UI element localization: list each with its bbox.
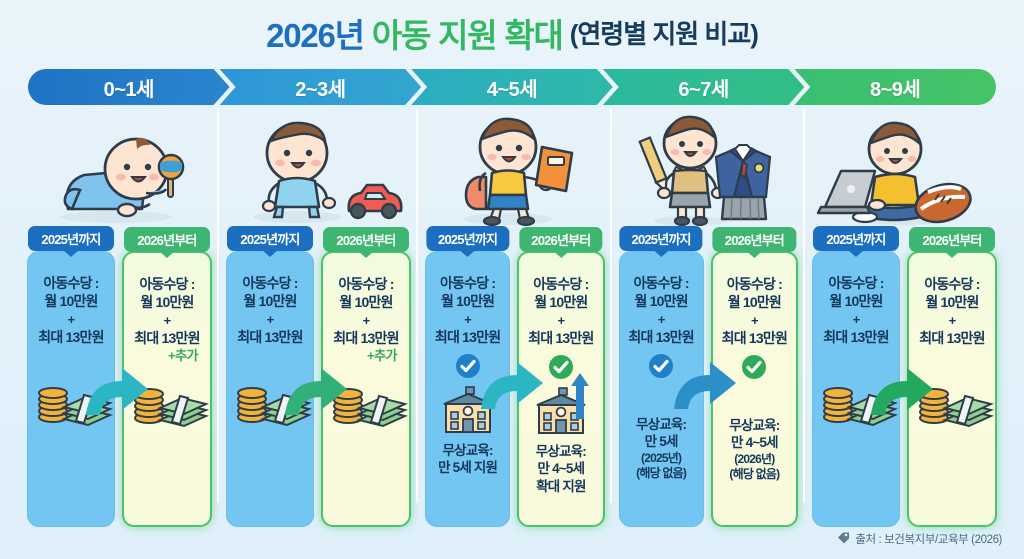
school-group-before	[434, 353, 502, 439]
allowance-line-3: 최대 13만원	[435, 328, 500, 346]
note-line-2: 만 4~5세	[536, 460, 586, 478]
note-line-2: 만 5세 지원	[438, 459, 497, 477]
allowance-line-1: 아동수당 :	[134, 275, 199, 293]
school-building-icon	[434, 386, 502, 439]
tab-after-2-3: 2026년부터	[323, 227, 409, 252]
allowance-plus: +	[919, 312, 984, 329]
allowance-line-1: 아동수당 :	[333, 275, 398, 293]
allowance-plus: +	[134, 312, 199, 329]
column-age-0-1: 2025년까지 아동수당 : 월 10만원 + 최대 13만원	[20, 109, 219, 527]
note-line-4: (해당 없음)	[729, 467, 779, 483]
allowance-plus: +	[722, 312, 787, 329]
check-group-before	[648, 353, 674, 386]
card-after-8-9[interactable]: 2026년부터 아동수당 : 월 10만원 + 최대 13만원	[907, 251, 997, 527]
illustration-crawling-baby	[20, 109, 219, 225]
allowance-line-2: 월 10만원	[38, 292, 103, 310]
allowance-plus: +	[628, 311, 693, 328]
title-main: 2026년 아동 지원 확대	[266, 9, 563, 57]
allowance-line-3: 최대 13만원	[823, 328, 888, 346]
card-before-4-5[interactable]: 2025년까지 아동수당 : 월 10만원 + 최대 13만원	[425, 251, 510, 527]
allowance-line-2: 월 10만원	[435, 292, 500, 310]
allowance-before-6-7: 아동수당 : 월 10만원 + 최대 13만원	[628, 274, 693, 347]
card-before-0-1[interactable]: 2025년까지 아동수당 : 월 10만원 + 최대 13만원	[27, 251, 115, 527]
allowance-line-2: 월 10만원	[134, 293, 199, 311]
column-age-2-3: 2025년까지 아동수당 : 월 10만원 + 최대 13만원	[219, 109, 418, 527]
age-segment-6-7[interactable]: 6~7세	[603, 69, 805, 105]
source-text: 출처 : 보건복지부/교육부 (2026)	[855, 531, 1002, 547]
check-circle-icon	[648, 353, 674, 384]
allowance-line-1: 아동수당 :	[435, 274, 500, 292]
note-line-4: (해당 없음)	[636, 466, 686, 482]
money-stack-icon	[227, 353, 313, 429]
age-segment-4-5[interactable]: 4~5세	[411, 69, 613, 105]
age-segment-0-1[interactable]: 0~1세	[28, 69, 230, 105]
tab-after-4-5: 2026년부터	[519, 227, 602, 252]
note-line-1: 무상교육:	[729, 417, 779, 435]
card-after-0-1[interactable]: 2026년부터 아동수당 : 월 10만원 + 최대 13만원 +추가	[122, 251, 212, 527]
tab-before-0-1: 2025년까지	[28, 226, 114, 251]
illustration-boy-laptop	[805, 109, 1004, 225]
allowance-plus: +	[38, 311, 103, 328]
tab-before-8-9: 2025년까지	[813, 226, 899, 251]
age-segment-2-3[interactable]: 2~3세	[220, 69, 422, 105]
title-subtitle: (연령별 지원 비교)	[570, 14, 758, 53]
note-line-1: 무상교육:	[636, 416, 686, 434]
allowance-line-3: 최대 13만원	[722, 329, 787, 347]
allowance-plus: +	[823, 311, 888, 328]
extra-badge-2-3: +추가	[367, 345, 397, 364]
note-line-1: 무상교육:	[438, 442, 497, 460]
allowance-line-2: 월 10만원	[823, 292, 888, 310]
allowance-line-3: 최대 13만원	[628, 328, 693, 346]
allowance-after-8-9: 아동수당 : 월 10만원 + 최대 13만원	[919, 275, 984, 348]
age-band: 0~1세 2~3세 4~5세 6~7세 8~9세	[28, 69, 996, 105]
tab-after-0-1: 2026년부터	[124, 227, 210, 252]
money-stack-icon	[28, 353, 114, 429]
allowance-line-1: 아동수당 :	[919, 275, 984, 293]
page-title: 2026년 아동 지원 확대 (연령별 지원 비교)	[0, 0, 1024, 62]
allowance-line-1: 아동수당 :	[528, 275, 593, 293]
card-after-2-3[interactable]: 2026년부터 아동수당 : 월 10만원 + 최대 13만원 +추가	[321, 251, 411, 527]
allowance-before-0-1: 아동수당 : 월 10만원 + 최대 13만원	[38, 274, 103, 347]
money-stack-icon	[124, 354, 210, 430]
allowance-after-2-3: 아동수당 : 월 10만원 + 최대 13만원	[333, 275, 398, 348]
allowance-after-4-5: 아동수당 : 월 10만원 + 최대 13만원	[528, 275, 593, 348]
age-segment-8-9[interactable]: 8~9세	[794, 69, 996, 105]
card-pair-4-5: 2025년까지 아동수당 : 월 10만원 + 최대 13만원	[418, 225, 612, 527]
allowance-line-3: 최대 13만원	[38, 328, 103, 346]
allowance-after-0-1: 아동수당 : 월 10만원 + 최대 13만원	[134, 275, 199, 348]
allowance-plus: +	[528, 312, 593, 329]
allowance-plus: +	[237, 311, 302, 328]
allowance-line-2: 월 10만원	[528, 293, 593, 311]
tab-before-2-3: 2025년까지	[227, 226, 313, 251]
note-before-6-7: 무상교육: 만 5세 (2025년) (해당 없음)	[636, 416, 686, 482]
note-line-2: 만 5세	[636, 433, 686, 451]
allowance-line-1: 아동수당 :	[628, 274, 693, 292]
money-stack-icon	[813, 353, 899, 429]
check-circle-icon	[455, 353, 481, 384]
card-after-4-5[interactable]: 2026년부터 아동수당 : 월 10만원 + 최대 13만원	[517, 251, 604, 527]
check-group-after	[741, 354, 767, 387]
check-circle-icon	[741, 354, 767, 385]
card-before-8-9[interactable]: 2025년까지 아동수당 : 월 10만원 + 최대 13만원	[812, 251, 900, 527]
allowance-line-3: 최대 13만원	[237, 328, 302, 346]
column-age-8-9: 2025년까지 아동수당 : 월 10만원 + 최대 13만원	[805, 109, 1004, 527]
allowance-line-1: 아동수당 :	[237, 274, 302, 292]
tab-before-4-5: 2025년까지	[426, 226, 509, 251]
card-pair-2-3: 2025년까지 아동수당 : 월 10만원 + 최대 13만원	[219, 225, 418, 527]
note-line-1: 무상교육:	[536, 443, 586, 461]
card-pair-8-9: 2025년까지 아동수당 : 월 10만원 + 최대 13만원	[805, 225, 1004, 527]
allowance-line-2: 월 10만원	[333, 293, 398, 311]
allowance-line-1: 아동수당 :	[823, 274, 888, 292]
tab-before-6-7: 2025년까지	[620, 226, 703, 251]
comparison-columns: 2025년까지 아동수당 : 월 10만원 + 최대 13만원	[20, 109, 1004, 527]
note-before-4-5: 무상교육: 만 5세 지원	[438, 442, 497, 477]
card-after-6-7[interactable]: 2026년부터 아동수당 : 월 10만원 + 최대 13만원	[711, 251, 798, 527]
allowance-line-2: 월 10만원	[628, 292, 693, 310]
card-before-2-3[interactable]: 2025년까지 아동수당 : 월 10만원 + 최대 13만원	[226, 251, 314, 527]
allowance-before-8-9: 아동수당 : 월 10만원 + 최대 13만원	[823, 274, 888, 347]
tab-after-8-9: 2026년부터	[909, 227, 995, 252]
card-pair-6-7: 2025년까지 아동수당 : 월 10만원 + 최대 13만원	[612, 225, 806, 527]
note-after-6-7: 무상교육: 만 4~5세 (2026년) (해당 없음)	[729, 417, 779, 483]
note-line-2: 만 4~5세	[729, 434, 779, 452]
tab-after-6-7: 2026년부터	[713, 227, 796, 252]
illustration-toddler-walking	[219, 109, 418, 225]
allowance-line-1: 아동수당 :	[722, 275, 787, 293]
column-age-6-7: 2025년까지 아동수당 : 월 10만원 + 최대 13만원	[612, 109, 806, 527]
column-age-4-5: 2025년까지 아동수당 : 월 10만원 + 최대 13만원	[418, 109, 612, 527]
allowance-line-3: 최대 13만원	[528, 329, 593, 347]
allowance-plus: +	[333, 312, 398, 329]
illustration-student-uniform	[612, 109, 806, 225]
illustration-schoolboy	[418, 109, 612, 225]
title-highlight: 아동 지원 확대	[372, 17, 563, 54]
note-line-3: 확대 지원	[536, 478, 586, 496]
allowance-after-6-7: 아동수당 : 월 10만원 + 최대 13만원	[722, 275, 787, 348]
title-year: 2026년	[266, 17, 364, 54]
allowance-line-2: 월 10만원	[237, 292, 302, 310]
up-arrow-icon	[570, 373, 590, 424]
extra-badge-0-1: +추가	[168, 345, 198, 364]
allowance-before-2-3: 아동수당 : 월 10만원 + 최대 13만원	[237, 274, 302, 347]
allowance-before-4-5: 아동수당 : 월 10만원 + 최대 13만원	[435, 274, 500, 347]
allowance-line-2: 월 10만원	[919, 293, 984, 311]
money-stack-icon	[909, 354, 995, 430]
allowance-line-2: 월 10만원	[722, 293, 787, 311]
money-stack-icon	[323, 354, 409, 430]
note-line-3: (2025년)	[636, 451, 686, 467]
tag-icon	[837, 531, 850, 547]
note-line-3: (2026년)	[729, 452, 779, 468]
note-after-4-5: 무상교육: 만 4~5세 확대 지원	[536, 443, 586, 496]
card-pair-0-1: 2025년까지 아동수당 : 월 10만원 + 최대 13만원	[20, 225, 219, 527]
source-note: 출처 : 보건복지부/교육부 (2026)	[837, 531, 1002, 547]
allowance-line-1: 아동수당 :	[38, 274, 103, 292]
allowance-line-3: 최대 13만원	[919, 329, 984, 347]
allowance-plus: +	[435, 311, 500, 328]
card-before-6-7[interactable]: 2025년까지 아동수당 : 월 10만원 + 최대 13만원	[619, 251, 704, 527]
